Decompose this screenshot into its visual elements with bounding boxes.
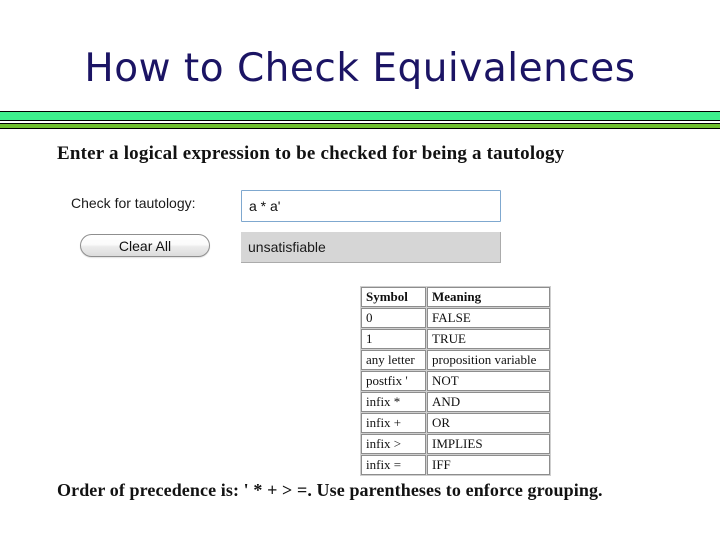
table-row: infix + OR	[361, 413, 550, 433]
table-row: infix = IFF	[361, 455, 550, 475]
table-row: postfix ' NOT	[361, 371, 550, 391]
table-cell-symbol: infix >	[361, 434, 426, 454]
table-cell-meaning: OR	[427, 413, 550, 433]
table-cell-symbol: infix +	[361, 413, 426, 433]
expression-input[interactable]	[241, 190, 501, 222]
table-cell-meaning: IFF	[427, 455, 550, 475]
table-cell-symbol: infix *	[361, 392, 426, 412]
expression-input-label: Check for tautology:	[71, 195, 196, 211]
table-cell-symbol: infix =	[361, 455, 426, 475]
content-heading: Enter a logical expression to be checked…	[57, 143, 564, 165]
table-row: any letter proposition variable	[361, 350, 550, 370]
table-cell-meaning: NOT	[427, 371, 550, 391]
divider	[0, 111, 720, 129]
table-cell-meaning: FALSE	[427, 308, 550, 328]
slide-title: How to Check Equivalences	[0, 46, 720, 91]
table-cell-symbol: 0	[361, 308, 426, 328]
table-row: infix * AND	[361, 392, 550, 412]
table-cell-meaning: proposition variable	[427, 350, 550, 370]
table-header-symbol: Symbol	[361, 287, 426, 307]
table-cell-symbol: any letter	[361, 350, 426, 370]
table-header-row: Symbol Meaning	[361, 287, 550, 307]
table-cell-symbol: postfix '	[361, 371, 426, 391]
table-cell-meaning: AND	[427, 392, 550, 412]
table-row: 1 TRUE	[361, 329, 550, 349]
table-header-meaning: Meaning	[427, 287, 550, 307]
symbol-reference-table: Symbol Meaning 0 FALSE 1 TRUE any letter…	[360, 286, 551, 476]
table-cell-symbol: 1	[361, 329, 426, 349]
precedence-note: Order of precedence is: ' * + > =. Use p…	[57, 480, 603, 501]
divider-bar-thin	[0, 123, 720, 129]
result-field: unsatisfiable	[241, 232, 501, 263]
table-row: 0 FALSE	[361, 308, 550, 328]
divider-bar-thick	[0, 111, 720, 121]
table-row: infix > IMPLIES	[361, 434, 550, 454]
clear-all-button[interactable]: Clear All	[80, 234, 210, 257]
table-cell-meaning: TRUE	[427, 329, 550, 349]
table-cell-meaning: IMPLIES	[427, 434, 550, 454]
